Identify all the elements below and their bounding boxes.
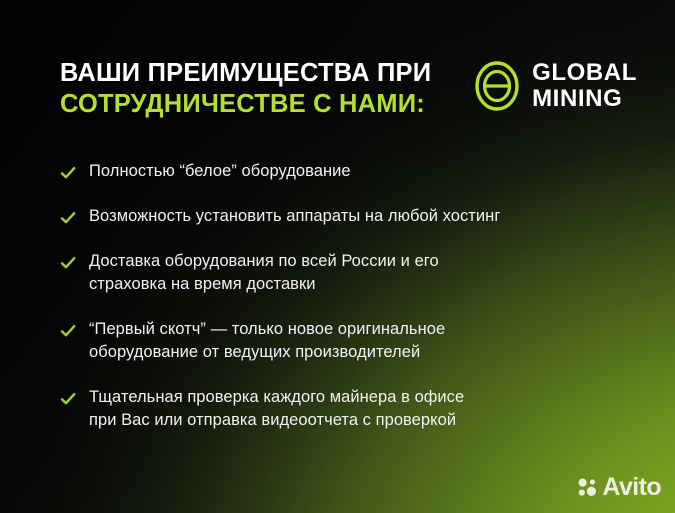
brand-name-line-2: MINING	[532, 85, 622, 112]
check-icon	[60, 391, 76, 407]
headline-line-2: СОТРУДНИЧЕСТВЕ С НАМИ:	[60, 89, 431, 120]
global-mining-ring-icon	[474, 60, 520, 112]
brand-name: GLOBAL MINING	[532, 60, 637, 112]
promo-banner: ВАШИ ПРЕИМУЩЕСТВА ПРИ СОТРУДНИЧЕСТВЕ С Н…	[0, 0, 675, 513]
benefits-list: Полностью “белое” оборудование Возможнос…	[60, 160, 635, 432]
benefit-text: Возможность установить аппараты на любой…	[89, 205, 500, 228]
banner-header: ВАШИ ПРЕИМУЩЕСТВА ПРИ СОТРУДНИЧЕСТВЕ С Н…	[60, 58, 637, 120]
avito-watermark: Avito	[577, 475, 661, 500]
check-icon	[60, 165, 76, 181]
check-icon	[60, 210, 76, 226]
list-item: “Первый скотч” — только новое оригинальн…	[60, 318, 635, 364]
benefit-text: “Первый скотч” — только новое оригинальн…	[89, 318, 445, 364]
benefit-text: Тщательная проверка каждого майнера в оф…	[89, 386, 464, 432]
list-item: Тщательная проверка каждого майнера в оф…	[60, 386, 635, 432]
check-icon	[60, 255, 76, 271]
headline-line-1: ВАШИ ПРЕИМУЩЕСТВА ПРИ	[60, 58, 431, 89]
list-item: Доставка оборудования по всей России и е…	[60, 250, 635, 296]
benefit-text: Доставка оборудования по всей России и е…	[89, 250, 439, 296]
list-item: Возможность установить аппараты на любой…	[60, 205, 635, 228]
check-icon	[60, 323, 76, 339]
brand-name-line-1: GLOBAL	[532, 59, 637, 86]
banner-content: ВАШИ ПРЕИМУЩЕСТВА ПРИ СОТРУДНИЧЕСТВЕ С Н…	[0, 0, 675, 513]
page-title: ВАШИ ПРЕИМУЩЕСТВА ПРИ СОТРУДНИЧЕСТВЕ С Н…	[60, 58, 431, 120]
brand-logo: GLOBAL MINING	[474, 60, 637, 112]
avito-dots-icon	[577, 477, 598, 498]
avito-label: Avito	[602, 475, 661, 500]
list-item: Полностью “белое” оборудование	[60, 160, 635, 183]
benefit-text: Полностью “белое” оборудование	[89, 160, 351, 183]
